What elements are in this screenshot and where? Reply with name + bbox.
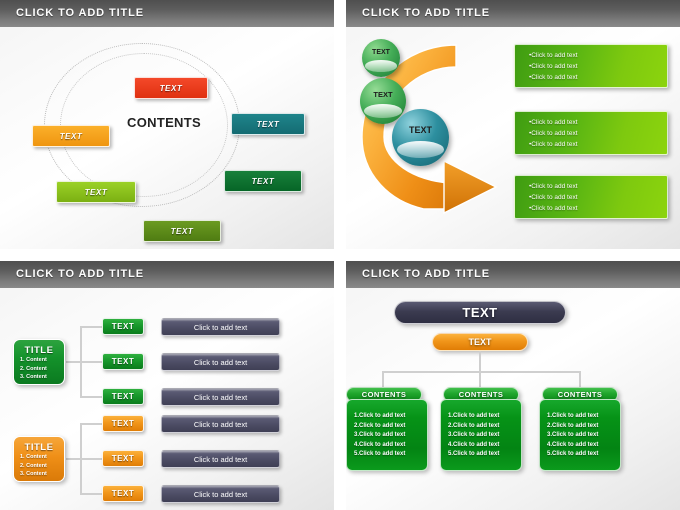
group-title-item: 3. Content [14,373,64,382]
bullet-line: Click to add text [529,139,667,150]
connector-line [382,371,384,388]
org-item: 4.Click to add text [547,441,620,451]
org-item: 2.Click to add text [547,422,620,432]
slide-arrow-spheres[interactable]: CLICK TO ADD TITLE [346,0,680,249]
row-tag-g2-2[interactable]: TEXT [102,450,144,467]
row-text-g1-3[interactable]: Click to add text [161,388,280,406]
slide-title-text: CLICK TO ADD TITLE [362,7,490,19]
group-title-item: 3. Content [14,470,64,479]
circle-node-4[interactable]: TEXT [143,220,221,242]
group-title-item: 1. Content [14,453,64,462]
bullet-line: Click to add text [529,50,667,61]
org-item: 2.Click to add text [448,422,521,432]
circle-node-1[interactable]: TEXT [134,77,208,99]
row-tag-g2-1[interactable]: TEXT [102,415,144,432]
row-text-g2-2[interactable]: Click to add text [161,450,280,468]
connector-line [66,458,82,460]
group-title-box-orange[interactable]: TITLE 1. Content 2. Content 3. Content [13,436,65,482]
org-item: 5.Click to add text [354,450,427,460]
green-text-box-2[interactable]: Click to add text Click to add text Clic… [514,111,668,155]
slide-title-bar[interactable]: CLICK TO ADD TITLE [346,0,680,27]
connector-line [382,371,581,373]
slide-title-bar[interactable]: CLICK TO ADD TITLE [0,0,334,27]
bullet-line: Click to add text [529,192,667,203]
org-item: 4.Click to add text [354,441,427,451]
slide-title-text: CLICK TO ADD TITLE [362,268,490,280]
org-root-node[interactable]: TEXT [394,301,566,324]
bullet-line: Click to add text [529,128,667,139]
connector-line [80,396,102,398]
org-item: 5.Click to add text [448,450,521,460]
row-tag-g1-3[interactable]: TEXT [102,388,144,405]
slide-gallery: CLICK TO ADD TITLE CONTENTS TEXT TEXT TE… [0,0,680,510]
slide-body: CONTENTS TEXT TEXT TEXT TEXT TEXT TEXT [0,27,334,249]
connector-line [579,371,581,388]
group-title-heading: TITLE [14,442,64,453]
slide-body: TEXT TEXT TEXT Click to add text Click t… [346,27,680,249]
connector-line [479,371,481,388]
org-item: 3.Click to add text [354,431,427,441]
sphere-label: TEXT [372,49,390,56]
bullet-line: Click to add text [529,181,667,192]
group-title-heading: TITLE [14,345,64,356]
circle-node-3[interactable]: TEXT [224,170,302,192]
connector-line [80,493,102,495]
bullet-line: Click to add text [529,117,667,128]
org-item: 2.Click to add text [354,422,427,432]
slide-title-content-rows[interactable]: CLICK TO ADD TITLE TITLE 1. Content 2. C… [0,261,334,510]
connector-line [80,458,102,460]
org-item: 1.Click to add text [547,412,620,422]
center-contents-label: CONTENTS [104,115,224,130]
slide-org-chart[interactable]: CLICK TO ADD TITLE TEXT TEXT CONTENTS 1.… [346,261,680,510]
group-title-item: 1. Content [14,356,64,365]
row-tag-g2-3[interactable]: TEXT [102,485,144,502]
org-item: 3.Click to add text [547,431,620,441]
row-text-g1-1[interactable]: Click to add text [161,318,280,336]
slide-title-text: CLICK TO ADD TITLE [16,7,144,19]
sphere-node-3[interactable]: TEXT [392,109,449,166]
connector-line [80,361,102,363]
slide-circle-contents[interactable]: CLICK TO ADD TITLE CONTENTS TEXT TEXT TE… [0,0,334,249]
row-text-g2-3[interactable]: Click to add text [161,485,280,503]
bullet-line: Click to add text [529,61,667,72]
group-title-item: 2. Content [14,365,64,374]
org-column-body-1[interactable]: 1.Click to add text 2.Click to add text … [346,399,428,471]
connector-line [66,361,82,363]
org-sub-node[interactable]: TEXT [432,333,528,351]
bullet-line: Click to add text [529,203,667,214]
org-item: 5.Click to add text [547,450,620,460]
green-text-box-3[interactable]: Click to add text Click to add text Clic… [514,175,668,219]
circle-node-2[interactable]: TEXT [231,113,305,135]
slide-title-bar[interactable]: CLICK TO ADD TITLE [346,261,680,288]
sphere-label: TEXT [409,125,432,135]
connector-line [80,326,102,328]
org-item: 1.Click to add text [448,412,521,422]
slide-body: TITLE 1. Content 2. Content 3. Content T… [0,288,334,510]
org-item: 1.Click to add text [354,412,427,422]
row-text-g2-1[interactable]: Click to add text [161,415,280,433]
circle-node-6[interactable]: TEXT [32,125,110,147]
row-tag-g1-2[interactable]: TEXT [102,353,144,370]
sphere-label: TEXT [373,90,392,99]
org-column-body-3[interactable]: 1.Click to add text 2.Click to add text … [539,399,621,471]
row-tag-g1-1[interactable]: TEXT [102,318,144,335]
circle-node-5[interactable]: TEXT [56,181,136,203]
slide-body: TEXT TEXT CONTENTS 1.Click to add text 2… [346,288,680,510]
connector-line [479,351,481,373]
org-column-body-2[interactable]: 1.Click to add text 2.Click to add text … [440,399,522,471]
org-item: 4.Click to add text [448,441,521,451]
group-title-item: 2. Content [14,462,64,471]
org-item: 3.Click to add text [448,431,521,441]
group-title-box-green[interactable]: TITLE 1. Content 2. Content 3. Content [13,339,65,385]
slide-title-bar[interactable]: CLICK TO ADD TITLE [0,261,334,288]
green-text-box-1[interactable]: Click to add text Click to add text Clic… [514,44,668,88]
connector-line [80,423,102,425]
row-text-g1-2[interactable]: Click to add text [161,353,280,371]
bullet-line: Click to add text [529,72,667,83]
sphere-node-1[interactable]: TEXT [362,39,400,77]
slide-title-text: CLICK TO ADD TITLE [16,268,144,280]
